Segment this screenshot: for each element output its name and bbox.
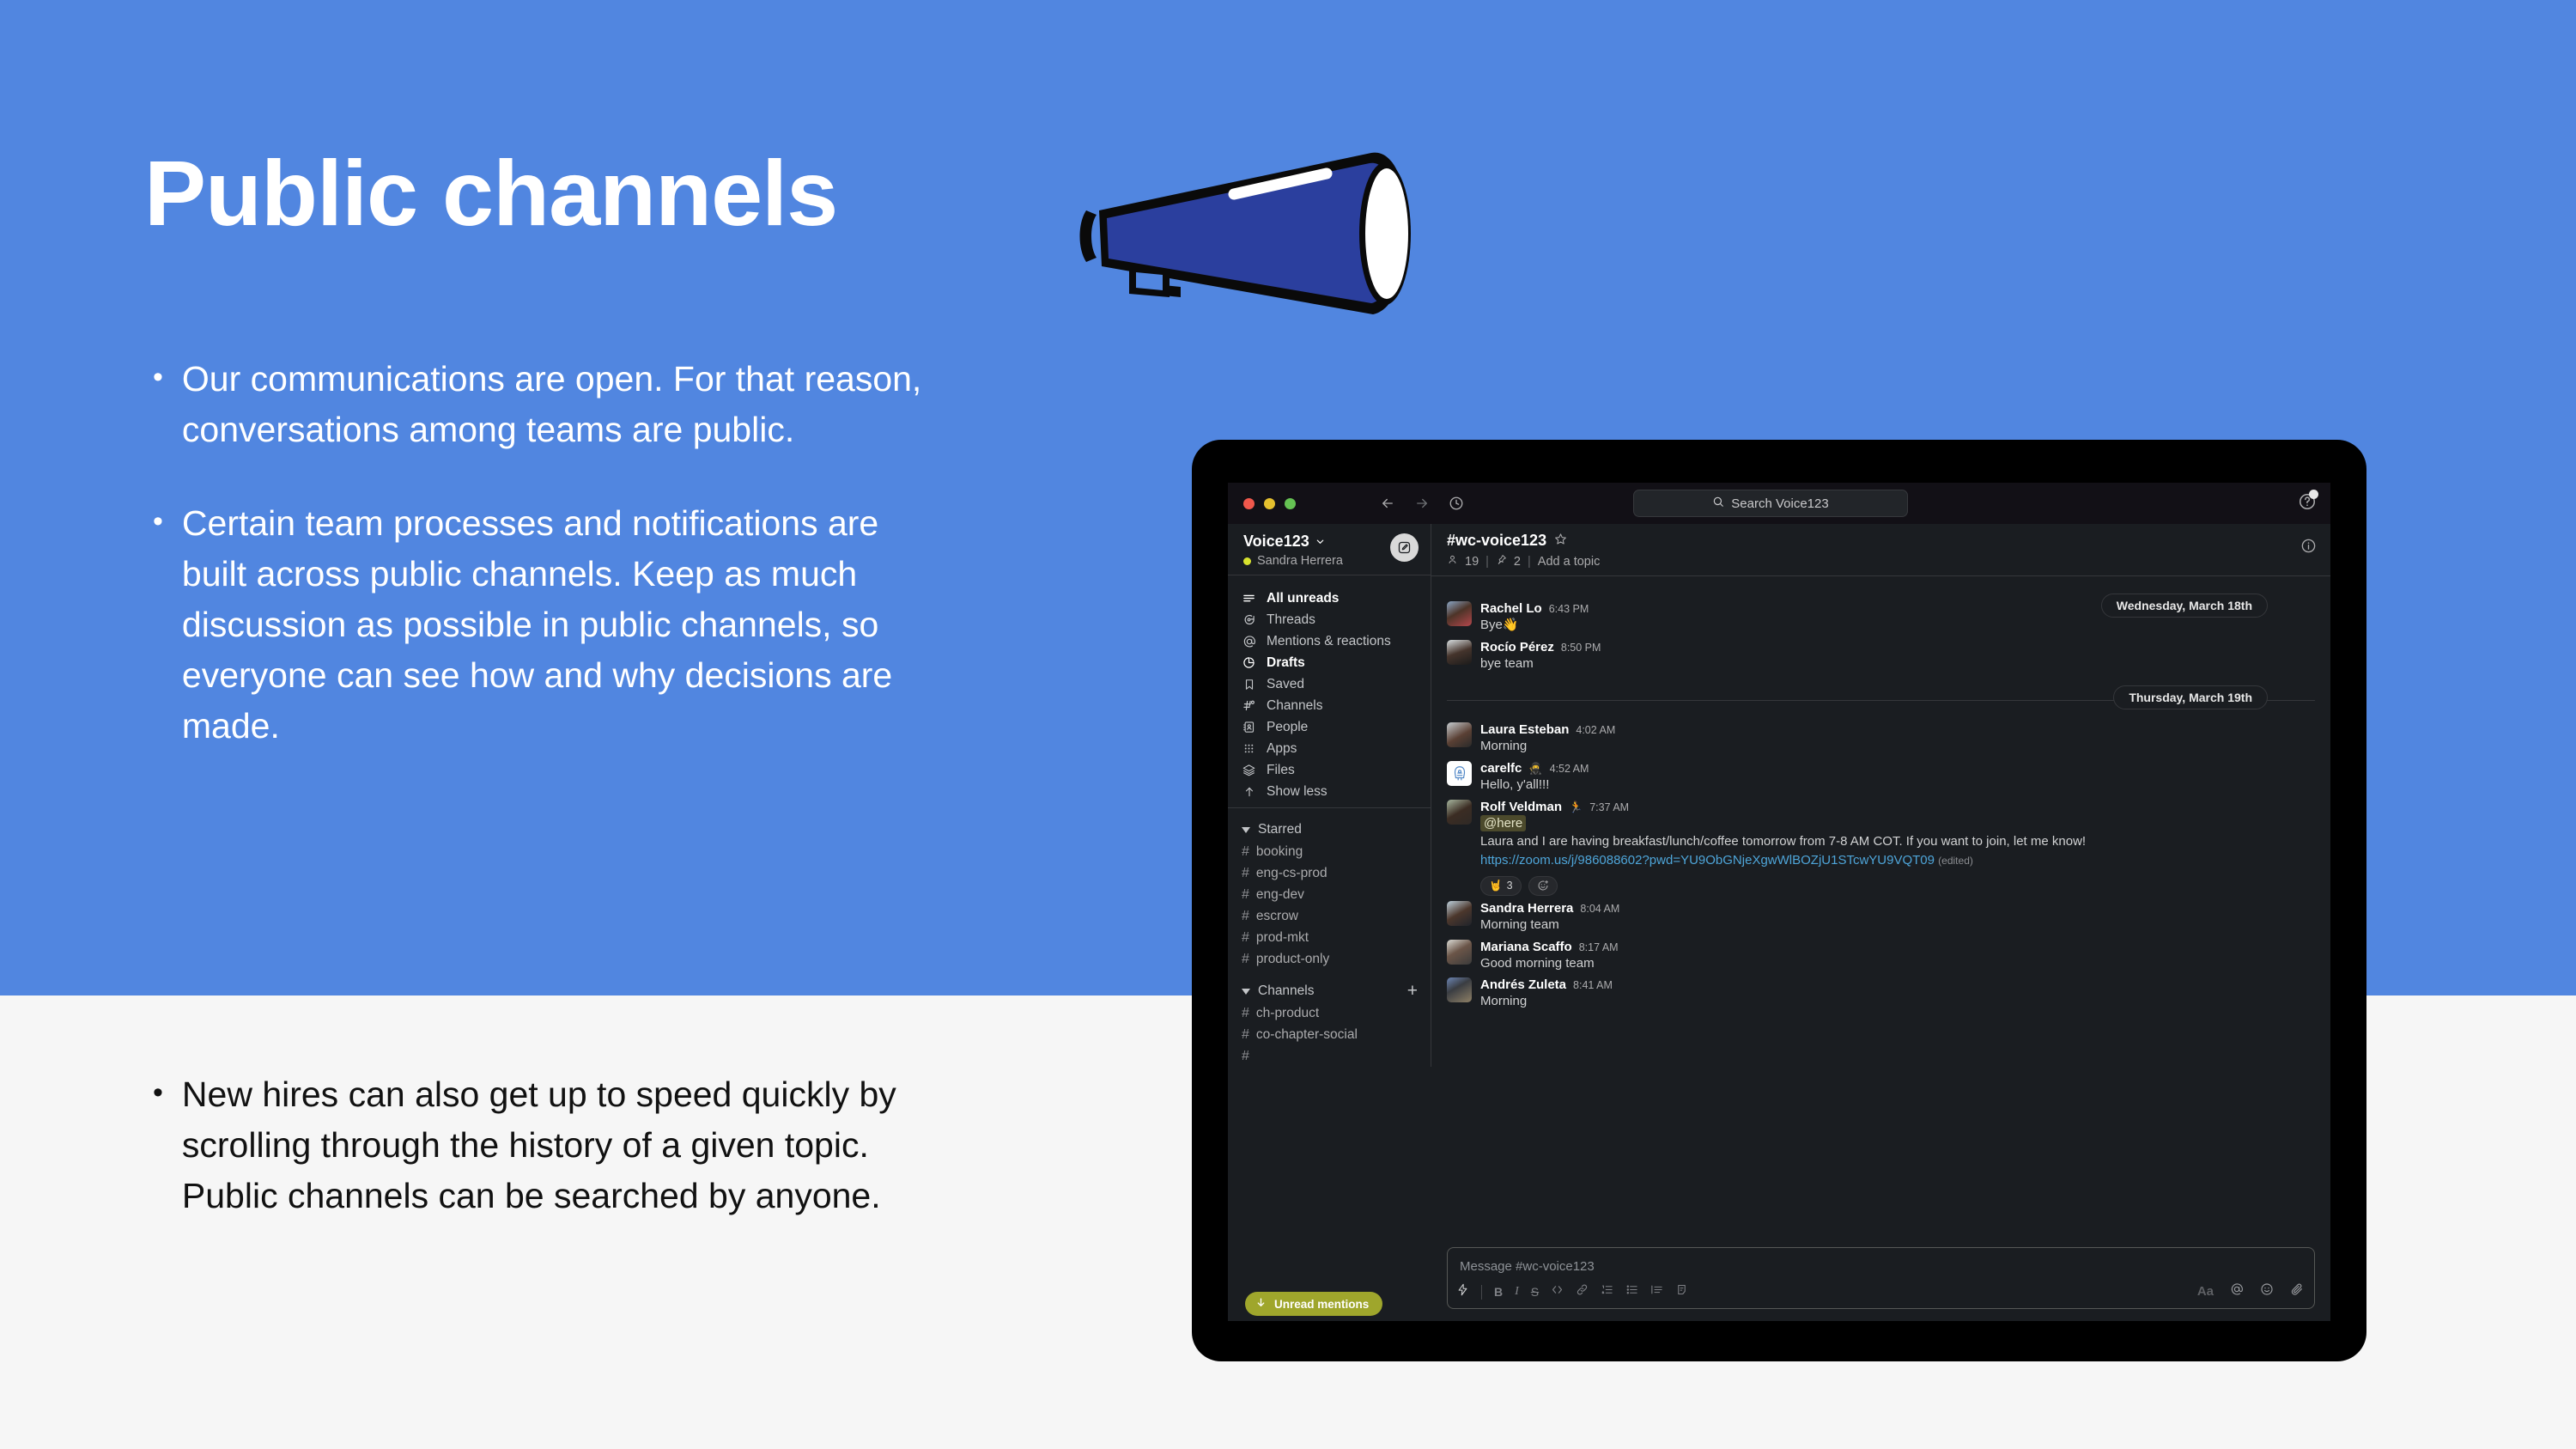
meta-separator: | <box>1485 555 1489 569</box>
nav-buttons[interactable] <box>1380 496 1464 511</box>
date-divider: Wednesday, March 18th <box>1447 594 2315 623</box>
search-icon <box>1712 496 1724 511</box>
bullet-item: • Our communications are open. For that … <box>153 354 926 455</box>
sidebar-channel-co-chapter-social[interactable]: #co-chapter-social <box>1228 1024 1431 1045</box>
date-divider: Thursday, March 19th <box>1447 685 2315 715</box>
composer-right-tools: Aa <box>2197 1282 2304 1300</box>
at-icon[interactable] <box>2230 1282 2244 1300</box>
message-timestamp: 8:17 AM <box>1579 941 1619 953</box>
bullet-text: Certain team processes and notifications… <box>182 498 926 752</box>
channel-label: booking <box>1256 844 1303 860</box>
sidebar-channel-product-only[interactable]: #product-only <box>1228 948 1431 970</box>
message-row: Sandra Herrera 8:04 AM Morning team <box>1447 898 2315 937</box>
slide-bullets-blue: • Our communications are open. For that … <box>153 354 926 752</box>
sidebar-item-label: Threads <box>1267 612 1315 628</box>
hash-icon: # <box>1242 887 1249 903</box>
drafts-icon <box>1242 656 1256 669</box>
bullet-dot: • <box>153 498 163 752</box>
italic-icon[interactable]: I <box>1515 1285 1519 1299</box>
channel-label: eng-dev <box>1256 887 1304 903</box>
info-circle-icon[interactable] <box>2300 538 2317 558</box>
message-link-line: https://zoom.us/j/986088602?pwd=YU9ObGNj… <box>1480 852 2315 870</box>
lightning-icon[interactable] <box>1456 1283 1469 1300</box>
compose-icon[interactable] <box>1390 533 1419 562</box>
message-author[interactable]: carelfc <box>1480 761 1522 776</box>
sidebar-item-people[interactable]: People <box>1228 716 1431 738</box>
channel-label: eng-cs-prod <box>1256 866 1327 881</box>
unreads-icon <box>1242 592 1256 605</box>
sidebar-channel-hidden[interactable]: # <box>1228 1045 1431 1067</box>
date-divider-label: Wednesday, March 18th <box>2101 594 2268 618</box>
sidebar-item-label: Show less <box>1267 784 1327 800</box>
section-header-channels[interactable]: Channels + <box>1228 980 1431 1002</box>
pin-count: 2 <box>1514 555 1521 569</box>
message-text: Morning team <box>1480 916 2315 935</box>
message-composer[interactable]: Message #wc-voice123 B I S <box>1447 1247 2315 1309</box>
slide-bullets-light: • New hires can also get up to speed qui… <box>153 1069 926 1221</box>
channels-icon <box>1242 699 1256 712</box>
arrow-left-icon[interactable] <box>1380 496 1395 511</box>
avatar[interactable] <box>1447 940 1472 965</box>
channel-meta: 19 | 2 | Add a topic <box>1447 554 2315 569</box>
reaction-bar: 🤘 3 <box>1480 876 2315 896</box>
unread-mentions-label: Unread mentions <box>1274 1298 1369 1311</box>
message-text: Laura and I are having breakfast/lunch/c… <box>1480 833 2315 851</box>
sidebar-item-channels[interactable]: Channels <box>1228 695 1431 716</box>
bullet-item: • New hires can also get up to speed qui… <box>153 1069 926 1221</box>
minimize-window-button[interactable] <box>1264 498 1275 509</box>
search-input[interactable]: Search Voice123 <box>1633 490 1908 517</box>
strikethrough-icon[interactable]: S <box>1531 1285 1539 1299</box>
sidebar-item-drafts[interactable]: Drafts <box>1228 652 1431 673</box>
add-topic-button[interactable]: Add a topic <box>1538 555 1601 569</box>
sidebar-item-label: Apps <box>1267 741 1297 757</box>
link-icon[interactable] <box>1576 1283 1589 1300</box>
sidebar-channel-eng-cs-prod[interactable]: #eng-cs-prod <box>1228 862 1431 884</box>
attach-icon[interactable] <box>2290 1282 2304 1300</box>
message-row: Laura Esteban 4:02 AM Morning <box>1447 720 2315 758</box>
sidebar-item-label: Mentions & reactions <box>1267 634 1391 649</box>
notification-dot <box>2309 490 2318 499</box>
search-placeholder-text: Search Voice123 <box>1731 496 1828 511</box>
message-timestamp: 8:41 AM <box>1573 979 1613 991</box>
message-author[interactable]: Laura Esteban <box>1480 722 1569 737</box>
sidebar-channel-booking[interactable]: #booking <box>1228 841 1431 862</box>
arrow-right-icon[interactable] <box>1414 496 1430 511</box>
sidebar-item-mentions-reactions[interactable]: Mentions & reactions <box>1228 630 1431 652</box>
caret-down-icon <box>1242 827 1250 833</box>
sidebar-nav-list: All unreads Threads Mentions & reactions <box>1228 575 1431 808</box>
date-divider-label: Thursday, March 19th <box>2113 685 2268 709</box>
message-text: Morning <box>1480 738 2315 756</box>
message-author[interactable]: Rolf Veldman <box>1480 800 1562 814</box>
section-label: Channels <box>1258 983 1315 999</box>
clock-icon[interactable] <box>1449 496 1464 511</box>
reaction-chip[interactable]: 🤘 3 <box>1480 876 1522 896</box>
member-icon[interactable] <box>1447 554 1458 569</box>
workspace-header[interactable]: Voice123 Sandra Herrera <box>1228 524 1431 575</box>
sidebar: Voice123 Sandra Herrera <box>1228 524 1431 1321</box>
sidebar-item-threads[interactable]: Threads <box>1228 609 1431 630</box>
avatar[interactable] <box>1447 977 1472 1002</box>
message-text: Good morning team <box>1480 955 2315 973</box>
message-timestamp: 7:37 AM <box>1589 801 1629 813</box>
avatar[interactable] <box>1447 901 1472 926</box>
message-timestamp: 8:04 AM <box>1580 903 1619 915</box>
bullet-text: New hires can also get up to speed quick… <box>182 1069 926 1221</box>
author-status-emoji: 🏃 <box>1569 801 1583 814</box>
sidebar-item-label: Saved <box>1267 677 1304 692</box>
message-timestamp: 4:52 AM <box>1550 763 1589 775</box>
apps-grid-icon <box>1242 743 1256 754</box>
sidebar-item-show-less[interactable]: Show less <box>1228 781 1431 802</box>
message-author[interactable]: Mariana Scaffo <box>1480 940 1572 954</box>
message-author[interactable]: Andrés Zuleta <box>1480 977 1566 992</box>
channel-label: product-only <box>1256 952 1329 967</box>
slack-app-window: Search Voice123 Voice123 <box>1228 483 2330 1321</box>
sidebar-section-starred: Starred #booking #eng-cs-prod #eng-dev #… <box>1228 808 1431 970</box>
files-layers-icon <box>1242 764 1256 776</box>
bullet-text: Our communications are open. For that re… <box>182 354 926 455</box>
bullet-dot: • <box>153 354 163 455</box>
bullet-item: • Certain team processes and notificatio… <box>153 498 926 752</box>
hash-icon: # <box>1242 866 1249 881</box>
sidebar-channel-eng-dev[interactable]: #eng-dev <box>1228 884 1431 905</box>
message-timestamp: 4:02 AM <box>1576 724 1615 736</box>
sidebar-item-files[interactable]: Files <box>1228 759 1431 781</box>
sidebar-item-label: Channels <box>1267 698 1323 714</box>
plus-icon[interactable]: + <box>1407 984 1418 999</box>
format-aa-icon[interactable]: Aa <box>2197 1284 2214 1299</box>
message-row: Rocío Pérez 8:50 PM bye team <box>1447 637 2315 676</box>
ordered-list-icon[interactable] <box>1601 1283 1613 1300</box>
channel-label: prod-mkt <box>1256 930 1309 946</box>
avatar[interactable] <box>1447 601 1472 626</box>
emoji-icon[interactable] <box>2260 1282 2274 1300</box>
sidebar-item-label: People <box>1267 720 1308 735</box>
megaphone-icon <box>1052 129 1455 344</box>
bulleted-list-icon[interactable] <box>1625 1283 1638 1300</box>
code-icon[interactable] <box>1551 1283 1564 1300</box>
message-timestamp: 8:50 PM <box>1561 642 1601 654</box>
section-header-starred[interactable]: Starred <box>1228 819 1431 841</box>
current-user-name: Sandra Herrera <box>1257 554 1343 568</box>
sidebar-item-label: Drafts <box>1267 655 1305 671</box>
hash-icon: # <box>1242 909 1249 924</box>
channel-pane: #wc-voice123 19 | 2 | Add a <box>1431 524 2330 1321</box>
hash-icon: # <box>1242 952 1249 967</box>
sidebar-item-all-unreads[interactable]: All unreads <box>1228 588 1431 609</box>
bullet-dot: • <box>153 1069 163 1221</box>
rock-on-emoji: 🤘 <box>1489 880 1503 892</box>
pin-icon[interactable] <box>1496 554 1507 569</box>
section-label: Starred <box>1258 822 1302 837</box>
code-block-icon[interactable] <box>1675 1283 1688 1300</box>
reaction-count: 3 <box>1507 880 1513 892</box>
hash-icon: # <box>1242 1049 1249 1064</box>
hash-icon: # <box>1242 1027 1249 1043</box>
page-title: Public channels <box>144 144 837 241</box>
presence-indicator <box>1243 557 1251 565</box>
message-text: Hello, y'all!!! <box>1480 776 2315 795</box>
edited-label: (edited) <box>1938 855 1973 867</box>
message-list: Wednesday, March 18th Rachel Lo 6:43 PM … <box>1431 576 2330 1242</box>
bold-icon[interactable]: B <box>1494 1285 1503 1299</box>
sidebar-item-label: Files <box>1267 763 1295 778</box>
zoom-link[interactable]: https://zoom.us/j/986088602?pwd=YU9ObGNj… <box>1480 853 1935 868</box>
star-icon[interactable] <box>1554 532 1567 550</box>
meta-separator: | <box>1528 555 1531 569</box>
channel-header: #wc-voice123 19 | 2 | Add a <box>1431 524 2330 576</box>
app-titlebar: Search Voice123 <box>1228 483 2330 524</box>
channel-title[interactable]: #wc-voice123 <box>1447 532 2315 550</box>
hash-icon: # <box>1242 844 1249 860</box>
workspace-name-label: Voice123 <box>1243 533 1309 551</box>
message-text: Morning <box>1480 993 2315 1011</box>
hash-icon: # <box>1242 1006 1249 1021</box>
sidebar-item-saved[interactable]: Saved <box>1228 673 1431 695</box>
member-count: 19 <box>1465 555 1479 569</box>
arrow-up-icon <box>1242 786 1256 798</box>
blockquote-icon[interactable] <box>1650 1283 1663 1300</box>
toolbar-divider <box>1481 1285 1482 1300</box>
message-author[interactable]: Rocío Pérez <box>1480 640 1554 654</box>
unread-mentions-button[interactable]: Unread mentions <box>1245 1292 1382 1316</box>
sidebar-item-apps[interactable]: Apps <box>1228 738 1431 759</box>
composer-format-toolbar: B I S <box>1456 1283 1688 1300</box>
author-status-emoji: 🥷 <box>1528 762 1542 776</box>
channel-label: ch-product <box>1256 1006 1319 1021</box>
bookmark-icon <box>1242 679 1256 691</box>
app-body: Voice123 Sandra Herrera <box>1228 524 2330 1321</box>
avatar[interactable] <box>1447 640 1472 665</box>
sidebar-channel-escrow[interactable]: #escrow <box>1228 905 1431 927</box>
channel-label: escrow <box>1256 909 1298 924</box>
sidebar-channel-prod-mkt[interactable]: #prod-mkt <box>1228 927 1431 948</box>
avatar[interactable] <box>1447 722 1472 747</box>
message-row: carelfc 🥷 4:52 AM Hello, y'all!!! <box>1447 758 2315 797</box>
message-row: Mariana Scaffo 8:17 AM Good morning team <box>1447 937 2315 976</box>
channel-label: co-chapter-social <box>1256 1027 1358 1043</box>
sidebar-section-channels: Channels + #ch-product #co-chapter-socia… <box>1228 970 1431 1067</box>
message-input-placeholder[interactable]: Message #wc-voice123 <box>1448 1248 2314 1274</box>
message-author[interactable]: Sandra Herrera <box>1480 901 1573 916</box>
maximize-window-button[interactable] <box>1285 498 1296 509</box>
message-row: Rolf Veldman 🏃 7:37 AM @here Laura and I… <box>1447 797 2315 898</box>
arrow-down-icon <box>1255 1297 1267 1311</box>
message-mention-line: @here <box>1480 815 2315 833</box>
hash-icon: # <box>1242 930 1249 946</box>
sidebar-channel-ch-product[interactable]: #ch-product <box>1228 1002 1431 1024</box>
people-icon <box>1242 721 1256 734</box>
avatar[interactable] <box>1447 761 1472 786</box>
here-mention[interactable]: @here <box>1480 815 1526 831</box>
close-window-button[interactable] <box>1243 498 1255 509</box>
message-text: bye team <box>1480 655 2315 673</box>
chevron-down-icon <box>1315 533 1325 551</box>
caret-down-icon <box>1242 989 1250 995</box>
add-reaction-icon[interactable] <box>1528 876 1558 896</box>
threads-icon <box>1242 613 1256 626</box>
sidebar-item-label: All unreads <box>1267 591 1339 606</box>
window-controls[interactable] <box>1243 498 1296 509</box>
at-icon <box>1242 635 1256 648</box>
message-row: Andrés Zuleta 8:41 AM Morning <box>1447 975 2315 1014</box>
channel-name-label: #wc-voice123 <box>1447 532 1546 550</box>
avatar[interactable] <box>1447 800 1472 825</box>
bullet-spacer <box>153 455 926 498</box>
